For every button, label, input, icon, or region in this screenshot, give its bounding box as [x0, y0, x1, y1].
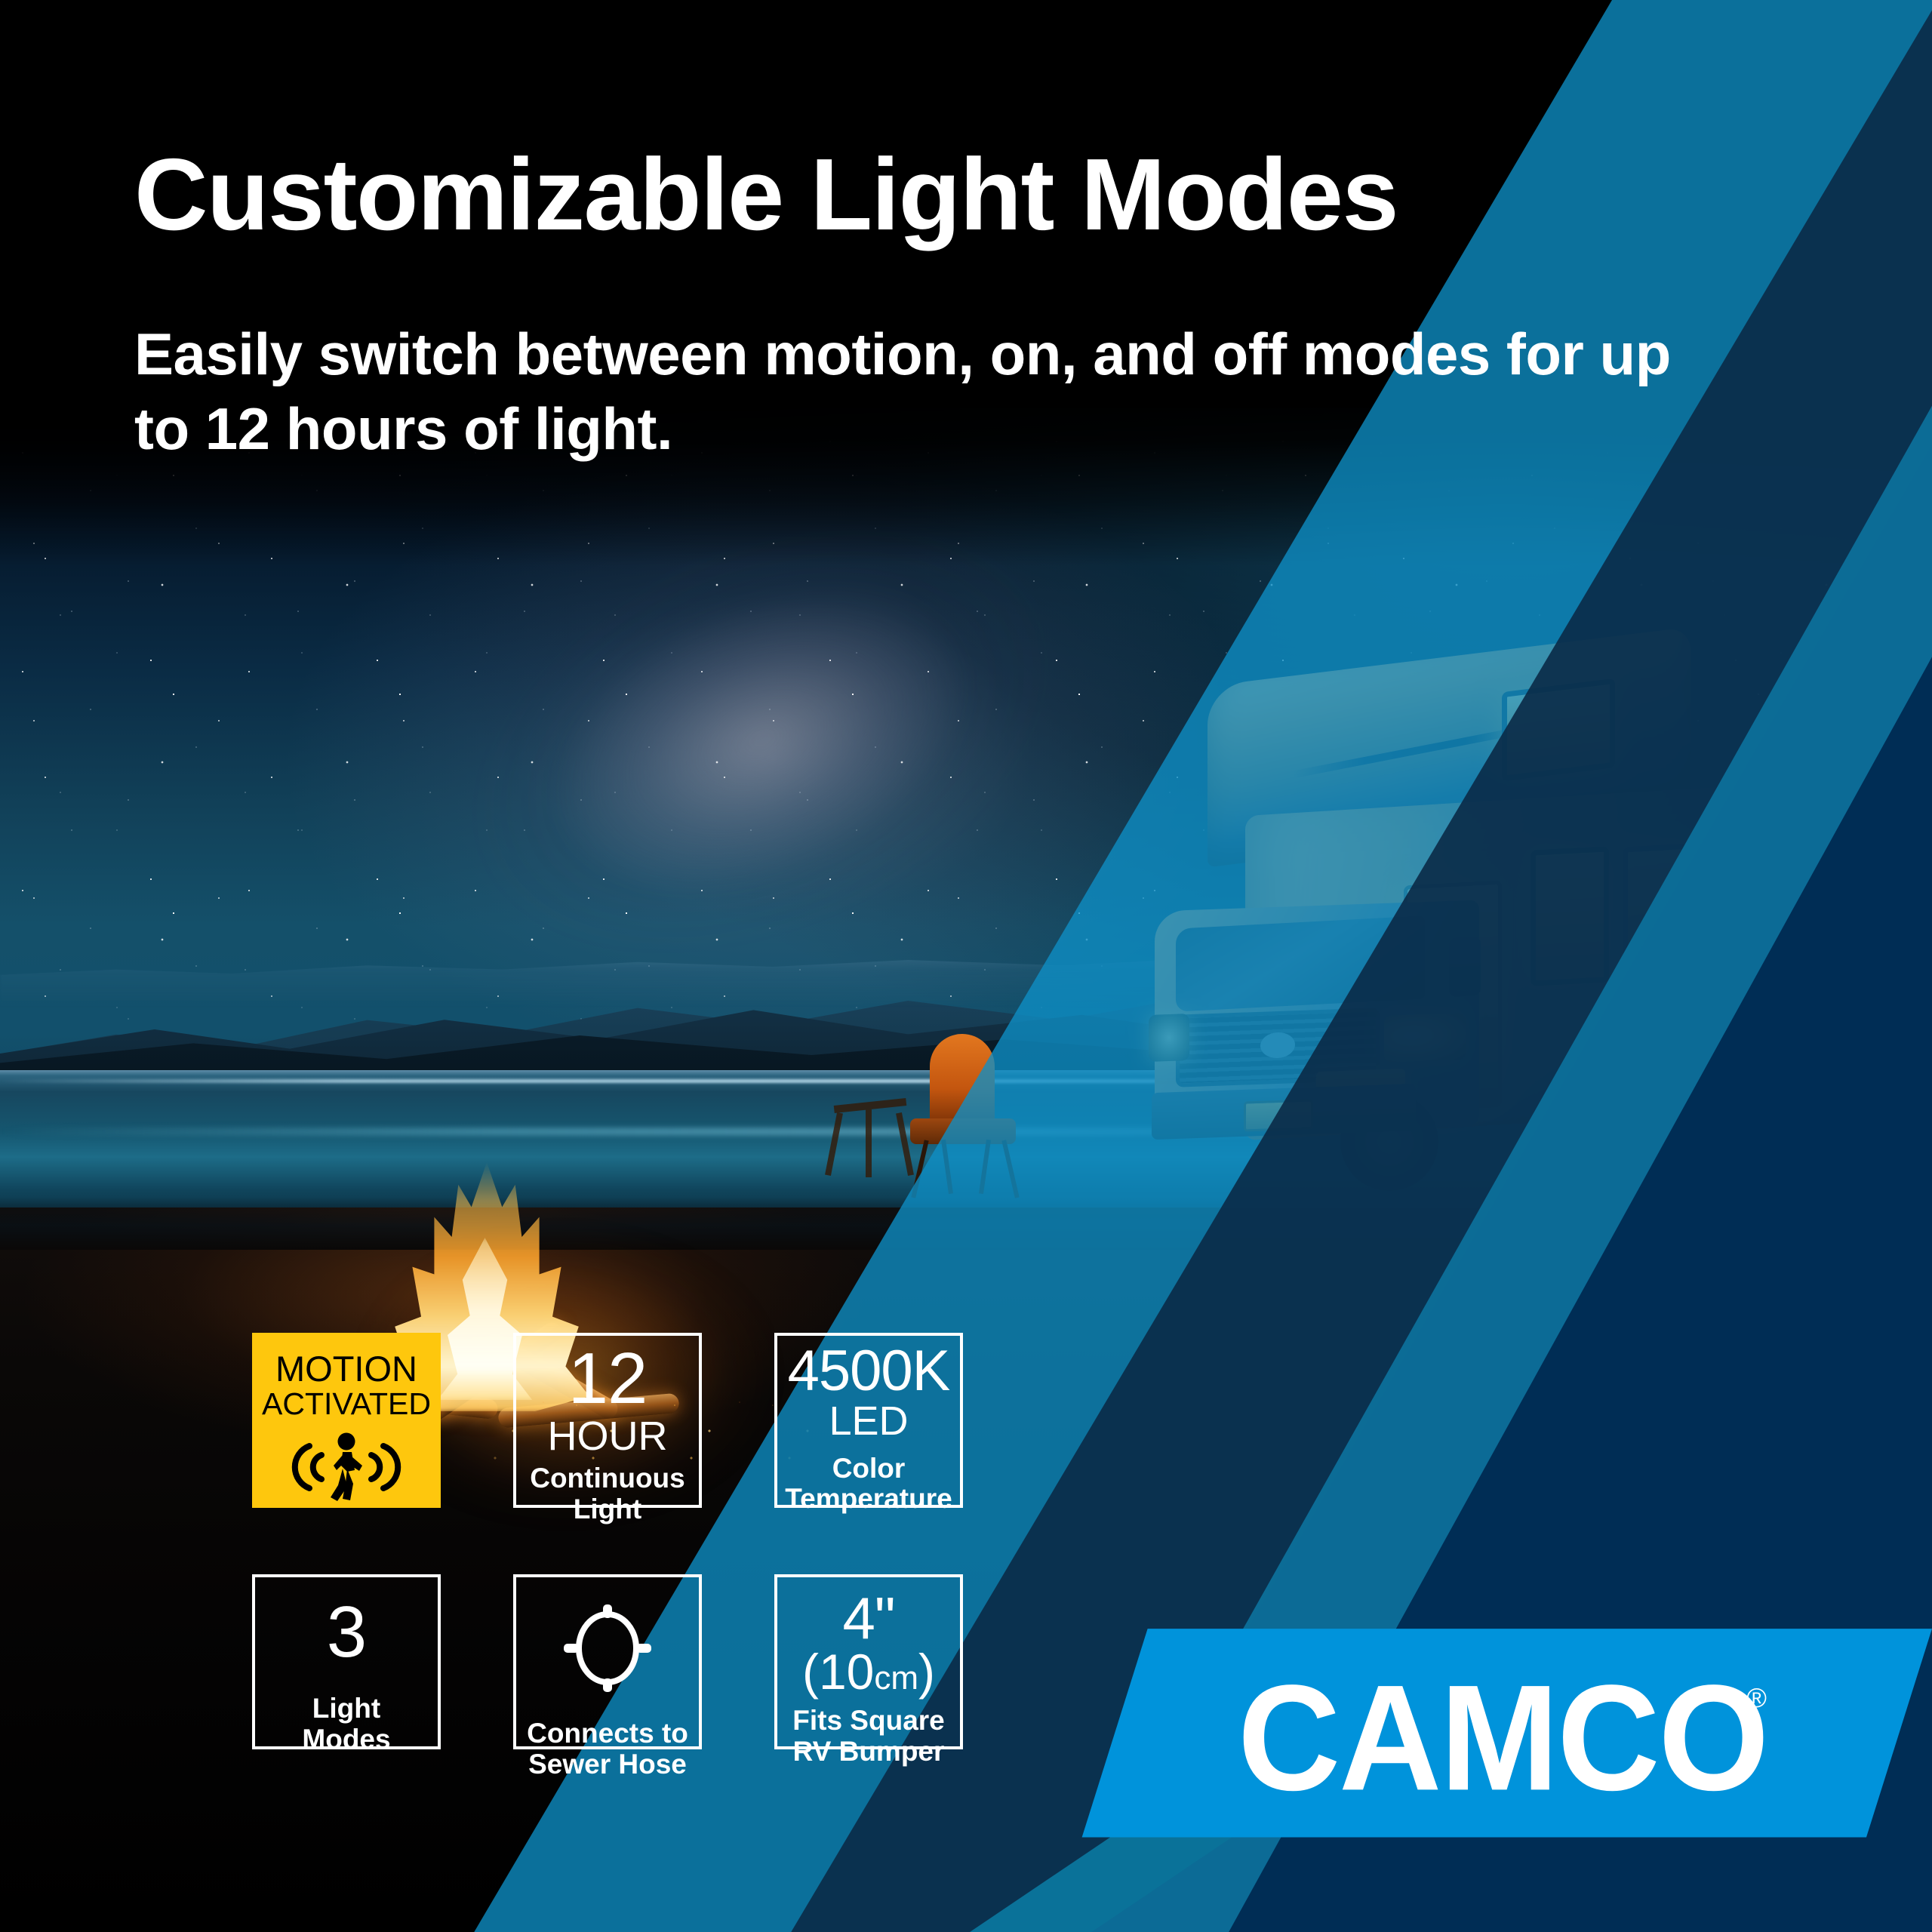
rv-motorhome [1155, 657, 1834, 1200]
badge-line1: MOTION [275, 1351, 417, 1388]
badge-fits-square-rv-bumper: 4" (10cm) Fits Square RV Bumper [774, 1574, 963, 1749]
rv-window-rear [1623, 843, 1695, 960]
badge-caption-line2: RV Bumper [792, 1737, 945, 1767]
badge-value: 4500K [788, 1343, 950, 1399]
badge-caption-line1: Color [785, 1454, 952, 1484]
rv-window-overcab [1502, 678, 1615, 781]
badge-metric-open: (10 [802, 1644, 874, 1700]
chair-leg [979, 1140, 991, 1194]
camco-logo: CAMCO ® [1238, 1672, 1841, 1804]
badge-caption-line1: Fits Square [792, 1706, 945, 1737]
badge-caption: Light Modes [302, 1694, 390, 1755]
badge-motion-activated: MOTION ACTIVATED [252, 1333, 441, 1508]
badge-metric-unit: cm [874, 1660, 918, 1697]
camping-chair [898, 1034, 1034, 1192]
rv-headlight-right [1384, 1013, 1466, 1063]
badge-caption-line2: Light [530, 1494, 685, 1525]
badge-value: 3 [327, 1597, 366, 1668]
badge-value: 12 [568, 1343, 648, 1414]
badge-caption: Continuous Light [530, 1463, 685, 1524]
rv-license-plate [1244, 1099, 1313, 1131]
chair-leg [1001, 1140, 1019, 1198]
badge-unit: LED [829, 1401, 908, 1442]
rv-windshield [1176, 915, 1425, 1011]
chair-leg [941, 1140, 953, 1194]
rv-rear-wheel [1615, 1079, 1700, 1164]
badge-caption-line1: Continuous [530, 1463, 685, 1494]
marketing-image-canvas: CAMCO ® Customizable Light Modes Easily … [0, 0, 1932, 1932]
brand-wordmark: CAMCO [1238, 1663, 1767, 1813]
feature-badge-grid: MOTION ACTIVATED [252, 1333, 963, 1749]
badge-caption-line2: Sewer Hose [527, 1749, 688, 1780]
badge-caption-line1: Light [302, 1694, 390, 1724]
badge-12-hour: 12 HOUR Continuous Light [513, 1333, 702, 1508]
badge-connects-to-sewer-hose: Connects to Sewer Hose [513, 1574, 702, 1749]
rv-window-side [1531, 846, 1609, 986]
badge-caption-line2: Modes [302, 1724, 390, 1755]
chair-leg [911, 1140, 928, 1198]
badge-caption: Fits Square RV Bumper [792, 1706, 945, 1767]
page-subtitle: Easily switch between motion, on, and of… [134, 317, 1697, 466]
badge-unit: HOUR [548, 1416, 668, 1457]
chair-backrest [930, 1034, 995, 1124]
badge-4500k-led: 4500K LED Color Temperature [774, 1333, 963, 1508]
badge-caption: Color Temperature [785, 1454, 952, 1515]
badge-value: 4" [842, 1589, 894, 1647]
badge-line2: ACTIVATED [262, 1388, 431, 1420]
badge-metric: (10cm) [802, 1647, 935, 1697]
motion-sensor-walking-person-icon [290, 1431, 403, 1507]
page-title: Customizable Light Modes [134, 143, 1398, 245]
badge-caption-line1: Connects to [527, 1718, 688, 1749]
badge-caption-line2: Temperature [785, 1484, 952, 1515]
rv-side-mirror [1449, 937, 1481, 997]
badge-metric-close: ) [918, 1644, 935, 1700]
badge-3-light-modes: 3 Light Modes [252, 1574, 441, 1749]
bayonet-sewer-fitting-icon [562, 1601, 653, 1699]
badge-caption: Connects to Sewer Hose [527, 1718, 688, 1780]
rv-headlight-left [1149, 1014, 1189, 1062]
